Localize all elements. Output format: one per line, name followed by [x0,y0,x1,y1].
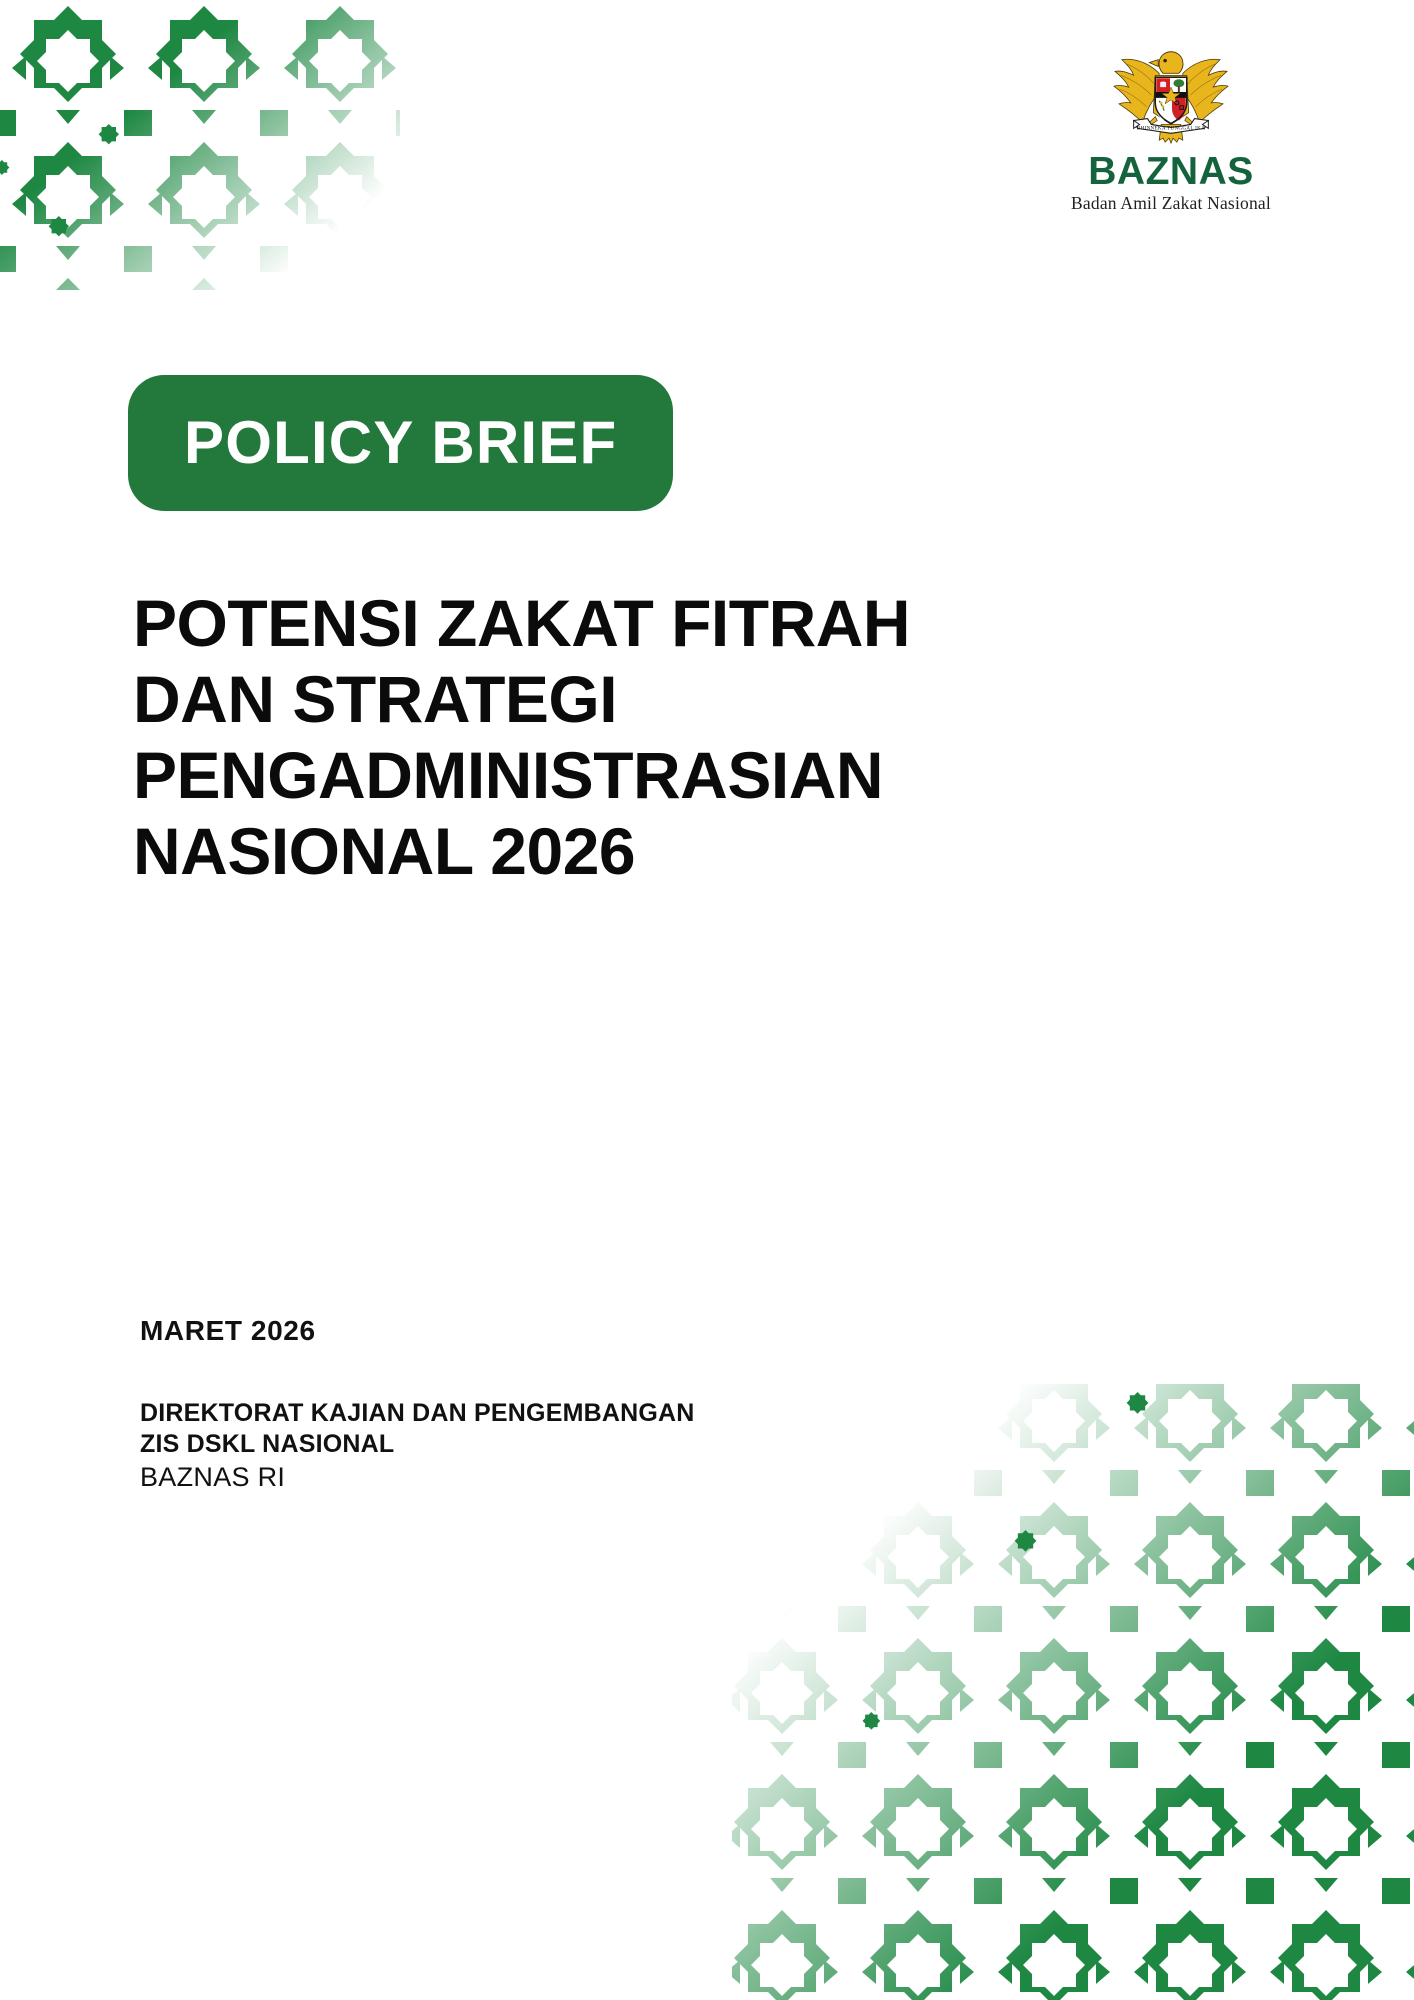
directorate-line-2: ZIS DSKL NASIONAL [140,1429,1040,1460]
baznas-wordmark: BAZNAS [1026,152,1316,192]
directorate-line-1: DIREKTORAT KAJIAN DAN PENGEMBANGAN [140,1398,1040,1429]
policy-brief-badge-label: POLICY BRIEF [184,413,617,473]
garuda-pancasila-emblem: BHINNEKA TUNGGAL IKA [1112,38,1230,150]
title-line-4: NASIONAL 2026 [133,813,1143,889]
baznas-tagline: Badan Amil Zakat Nasional [1026,193,1316,214]
institution-name: BAZNAS RI [140,1461,1040,1494]
issuing-directorate: DIREKTORAT KAJIAN DAN PENGEMBANGAN ZIS D… [140,1398,1040,1494]
page-title: POTENSI ZAKAT FITRAH DAN STRATEGI PENGAD… [133,585,1143,889]
pattern-accent-stars [0,122,119,236]
policy-brief-badge: POLICY BRIEF [128,375,673,511]
baznas-logo: BHINNEKA TUNGGAL IKA BAZNAS Badan Amil Z… [1026,38,1316,214]
title-line-1: POTENSI ZAKAT FITRAH [133,585,1143,661]
title-line-2: DAN STRATEGI [133,661,1143,737]
islamic-geometric-pattern-top-left [0,0,430,300]
svg-text:BHINNEKA TUNGGAL IKA: BHINNEKA TUNGGAL IKA [1137,125,1205,131]
cover-meta: MARET 2026 DIREKTORAT KAJIAN DAN PENGEMB… [140,1314,1040,1494]
publication-date: MARET 2026 [140,1314,1040,1348]
title-line-3: PENGADMINISTRASIAN [133,737,1143,813]
cover-page: BHINNEKA TUNGGAL IKA BAZNAS Badan Amil Z… [0,0,1414,2000]
